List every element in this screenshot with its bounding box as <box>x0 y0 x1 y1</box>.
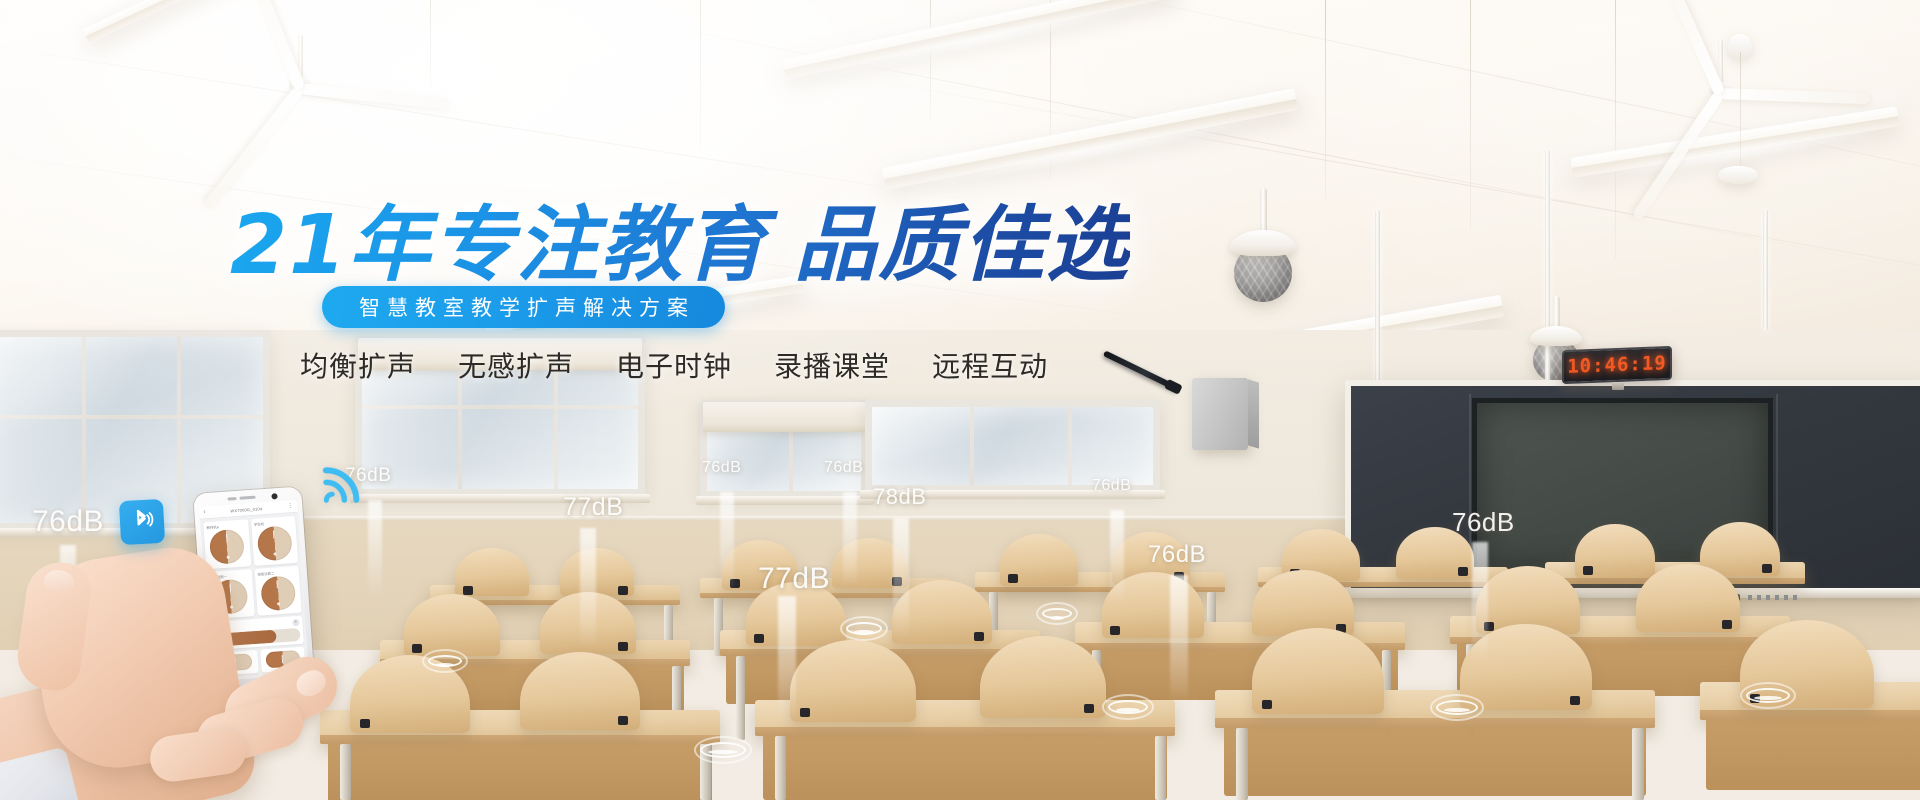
clock-mount <box>1612 382 1624 390</box>
suspension-wire <box>700 0 701 150</box>
student-chair <box>540 592 636 654</box>
feature-item-0: 均衡扩声 <box>300 345 416 385</box>
proximity-sensor-icon <box>227 497 236 501</box>
suspension-wire <box>430 0 431 90</box>
student-chair <box>892 580 992 644</box>
control-card[interactable]: 学生机 <box>251 516 299 566</box>
student-chair <box>1252 570 1354 636</box>
wall-speaker <box>1192 378 1248 450</box>
suspension-wire <box>1615 0 1616 260</box>
student-chair <box>1252 628 1384 714</box>
page-headline: 21年专注教育品质佳选 <box>230 178 1130 297</box>
volume-knob[interactable] <box>260 575 296 611</box>
student-chair <box>1396 527 1474 579</box>
student-chair <box>980 636 1106 718</box>
banner-stage: 10:46:19 <box>0 0 1920 800</box>
window-right <box>865 400 1160 492</box>
more-vertical-icon[interactable]: ⋮ <box>287 503 293 509</box>
desk-leg <box>700 744 711 800</box>
student-chair <box>560 548 634 596</box>
headline-rest: 年专注教育 <box>348 200 768 291</box>
feature-item-4: 远程互动 <box>932 345 1048 385</box>
bluetooth-audio-icon <box>119 499 165 545</box>
student-chair <box>1740 620 1874 708</box>
feature-item-2: 电子时钟 <box>616 345 732 385</box>
board-button-row[interactable] <box>1748 595 1802 600</box>
student-chair <box>1102 572 1204 638</box>
window-sill <box>860 490 1165 499</box>
desk-leg <box>1236 728 1248 800</box>
headline-second: 品质佳选 <box>794 200 1130 291</box>
microphone-pole <box>1763 210 1768 330</box>
volume-knob[interactable] <box>209 529 245 565</box>
feature-item-3: 录播课堂 <box>774 345 890 385</box>
feature-item-1: 无感扩声 <box>458 345 574 385</box>
ceiling-sensor-puck <box>1718 166 1758 184</box>
student-chair <box>1000 534 1078 586</box>
student-chair <box>520 652 640 730</box>
board-tray <box>1340 588 1920 598</box>
student-chair <box>790 640 916 722</box>
volume-knob[interactable] <box>256 525 292 561</box>
control-card[interactable]: 拾音话筒二 <box>254 566 302 616</box>
desk-leg <box>1155 736 1166 800</box>
app-title: WX7000G_0104 <box>230 506 262 513</box>
plus-icon[interactable]: + <box>292 619 299 626</box>
subtitle-pill-label: 智慧教室教学扩声解决方案 <box>352 292 695 322</box>
suspension-wire <box>1470 0 1471 230</box>
suspension-wire <box>1740 52 1741 182</box>
wifi-signal-icon <box>318 452 375 509</box>
clock-time: 10:46:19 <box>1567 352 1667 378</box>
window-blind <box>703 402 865 432</box>
suspension-wire <box>930 0 931 120</box>
desk-leg <box>775 736 786 800</box>
chevron-left-icon[interactable]: ‹ <box>203 509 205 515</box>
student-chair <box>1460 624 1592 710</box>
student-chair <box>746 582 846 646</box>
feature-list: 均衡扩声无感扩声电子时钟录播课堂远程互动 <box>300 345 1048 385</box>
subtitle-pill: 智慧教室教学扩声解决方案 <box>322 286 725 328</box>
pendant-speaker <box>1230 188 1296 308</box>
student-chair <box>1636 564 1740 632</box>
hand-holding-phone: ‹ WX7000G_0104 ⋮ 教师机A 学生机 拾音话筒一 <box>0 470 440 800</box>
suspension-wire <box>1325 0 1326 200</box>
front-camera-icon <box>271 493 277 499</box>
headline-number: 21 <box>230 198 348 293</box>
window-sill <box>696 496 874 505</box>
desk-leg <box>1632 728 1644 800</box>
electronic-clock: 10:46:19 <box>1562 346 1672 384</box>
desk-leg <box>736 656 745 740</box>
student-chair <box>455 548 529 596</box>
earpiece-icon <box>239 496 255 500</box>
control-card[interactable]: 教师机A <box>203 519 251 569</box>
